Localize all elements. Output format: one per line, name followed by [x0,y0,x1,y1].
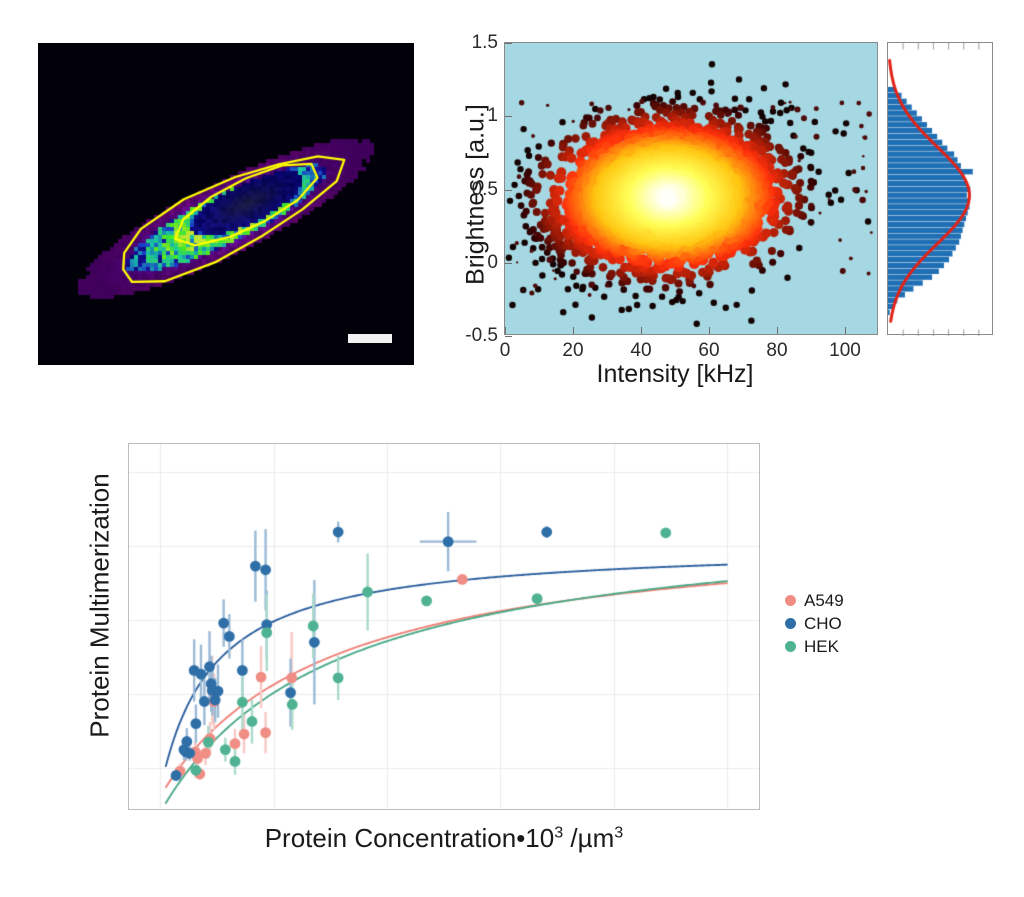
scatter-x-tick-label: 60 [698,340,719,362]
legend-item-label: A549 [804,591,844,611]
scatter-y-tick-label: 0 [487,252,498,274]
scatter-y-tickmark [505,116,512,117]
scatter-x-tick-label: 0 [500,340,511,362]
scatter-x-tick-label: 80 [766,340,787,362]
scale-bar [348,334,392,343]
legend-item-label: HEK [804,637,839,657]
legend-item-a549[interactable]: A549 [785,590,844,611]
multi-y-axis-label: Protein Multimerization [85,421,116,791]
scatter-y-tick-label: -0.5 [465,325,498,347]
scatter-plot-area: -0.500.511.5020406080100 [504,42,878,335]
scatter-y-tickmark [505,263,512,264]
cell-image-canvas [38,43,414,365]
scatter-y-tick-label: 1.5 [472,32,498,54]
scatter-y-tick-label: 1 [487,105,498,127]
scatter-x-tickmark [641,327,642,334]
multi-x-label-exp1: 3 [554,823,563,841]
legend-marker-icon [785,618,796,629]
legend-item-cho[interactable]: CHO [785,613,844,634]
scatter-y-tickmark [505,190,512,191]
legend-item-label: CHO [804,614,842,634]
multimerization-panel: Protein Multimerization 123450246810 Pro… [55,430,995,880]
legend-marker-icon [785,595,796,606]
multi-x-label-mid: /µm [563,823,614,853]
brightness-histogram-canvas [888,43,994,336]
density-scatter-canvas [505,43,879,336]
multimerization-scatter-canvas [129,444,760,810]
scatter-x-tickmark [777,327,778,334]
scatter-x-tickmark [709,327,710,334]
scatter-x-axis-label: Intensity [kHz] [485,360,865,389]
brightness-histogram-area [887,42,993,335]
brightness-intensity-panel: Brightness [a.u.] -0.500.511.50204060801… [455,30,1015,400]
scatter-x-tickmark [845,327,846,334]
legend-marker-icon [785,641,796,652]
cell-line-legend: A549CHOHEK [785,590,844,657]
scatter-x-tickmark [505,327,506,334]
multi-x-label-exp2: 3 [614,823,623,841]
multi-x-label-prefix: Protein Concentration•10 [265,823,555,853]
scatter-y-tickmark [505,336,512,337]
multi-x-axis-label: Protein Concentration•103 /µm3 [128,823,760,854]
scatter-y-tickmark [505,43,512,44]
scatter-x-tick-label: 40 [630,340,651,362]
multi-plot-area: 123450246810 [128,443,760,810]
scatter-x-tick-label: 20 [562,340,583,362]
figure-root: Brightness [a.u.] -0.500.511.50204060801… [0,0,1024,897]
fluorescence-micrograph-panel [38,43,414,365]
legend-item-hek[interactable]: HEK [785,636,844,657]
scatter-x-tick-label: 100 [829,340,861,362]
scatter-y-tick-label: 0.5 [472,179,498,201]
scatter-x-tickmark [573,327,574,334]
